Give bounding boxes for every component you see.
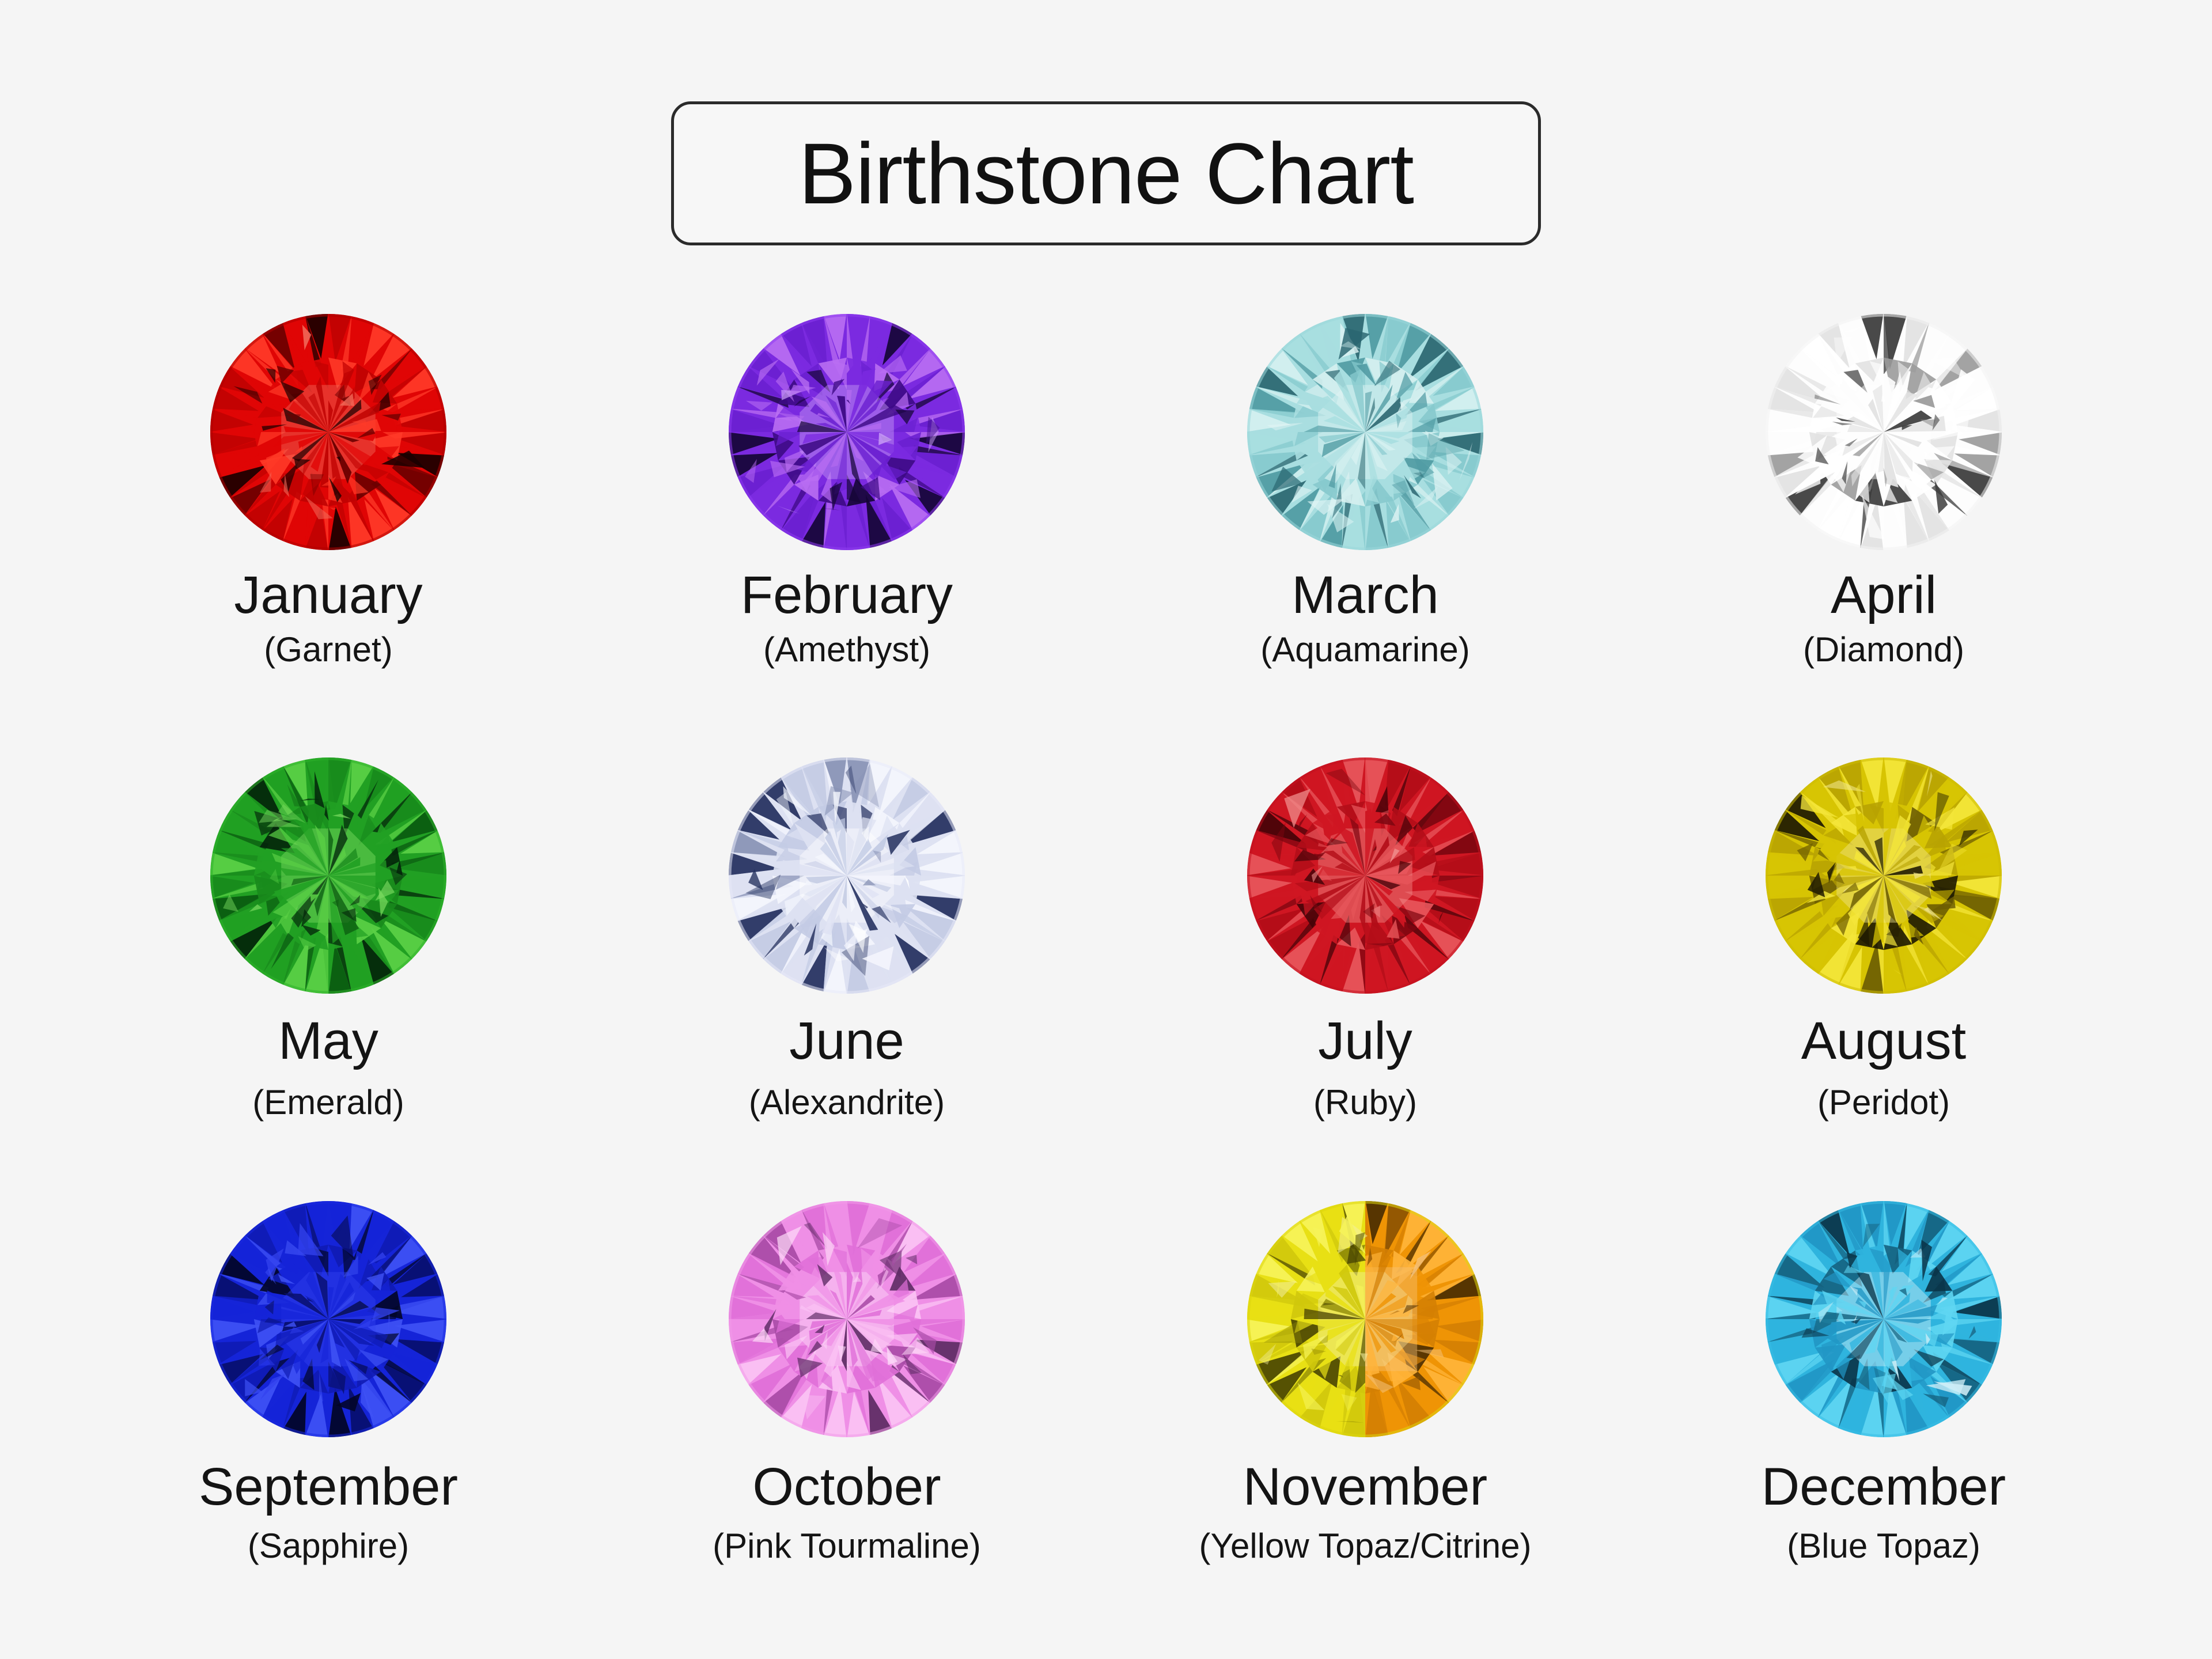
birthstone-cell-august[interactable]: August(Peridot) (1624, 755, 2143, 1198)
gem-svg (1763, 1198, 2005, 1440)
gem-svg (1244, 311, 1486, 553)
birthstone-cell-january[interactable]: January(Garnet) (69, 311, 588, 755)
stone-label: (Emerald) (75, 1084, 582, 1120)
round-brilliant-gem-icon (1763, 1198, 2005, 1440)
stone-label: (Alexandrite) (593, 1084, 1100, 1120)
round-brilliant-gem-icon (207, 311, 449, 553)
birthstone-cell-september[interactable]: September(Sapphire) (69, 1198, 588, 1642)
stone-label: (Blue Topaz) (1630, 1528, 2137, 1564)
birthstone-caption: November(Yellow Topaz/Citrine) (1112, 1440, 1619, 1564)
round-brilliant-gem-icon (207, 1198, 449, 1440)
birthstone-caption: June(Alexandrite) (593, 997, 1100, 1120)
gem-svg (1763, 755, 2005, 997)
stone-label: (Pink Tourmaline) (593, 1528, 1100, 1564)
gem-svg (1244, 1198, 1486, 1440)
stone-label: (Amethyst) (593, 631, 1100, 668)
birthstone-caption: January(Garnet) (75, 553, 582, 668)
birthstone-cell-march[interactable]: March(Aquamarine) (1106, 311, 1624, 755)
gem-svg (1244, 755, 1486, 997)
birthstone-caption: March(Aquamarine) (1112, 553, 1619, 668)
month-label: September (75, 1460, 582, 1515)
birthstone-cell-july[interactable]: July(Ruby) (1106, 755, 1624, 1198)
gem-svg (207, 755, 449, 997)
month-label: July (1112, 1014, 1619, 1069)
gem-svg (1763, 311, 2005, 553)
gem-svg (207, 1198, 449, 1440)
page-title: Birthstone Chart (798, 130, 1414, 217)
birthstone-cell-october[interactable]: October(Pink Tourmaline) (588, 1198, 1106, 1642)
birthstone-cell-april[interactable]: April(Diamond) (1624, 311, 2143, 755)
birthstone-cell-december[interactable]: December(Blue Topaz) (1624, 1198, 2143, 1642)
round-brilliant-gem-icon (1763, 755, 2005, 997)
round-brilliant-gem-icon (726, 755, 968, 997)
stone-label: (Peridot) (1630, 1084, 2137, 1120)
birthstone-caption: December(Blue Topaz) (1630, 1440, 2137, 1564)
title-box: Birthstone Chart (671, 101, 1541, 245)
birthstone-caption: July(Ruby) (1112, 997, 1619, 1120)
month-label: May (75, 1014, 582, 1069)
stone-label: (Diamond) (1630, 631, 2137, 668)
gem-svg (726, 755, 968, 997)
stone-label: (Ruby) (1112, 1084, 1619, 1120)
birthstone-cell-may[interactable]: May(Emerald) (69, 755, 588, 1198)
birthstone-caption: April(Diamond) (1630, 553, 2137, 668)
month-label: December (1630, 1460, 2137, 1515)
month-label: November (1112, 1460, 1619, 1515)
month-label: October (593, 1460, 1100, 1515)
birthstone-caption: October(Pink Tourmaline) (593, 1440, 1100, 1564)
stone-label: (Aquamarine) (1112, 631, 1619, 668)
gem-svg (726, 1198, 968, 1440)
gem-svg (726, 311, 968, 553)
stone-label: (Garnet) (75, 631, 582, 668)
round-brilliant-gem-icon (1244, 755, 1486, 997)
month-label: April (1630, 568, 2137, 623)
birthstone-caption: May(Emerald) (75, 997, 582, 1120)
round-brilliant-gem-icon (1763, 311, 2005, 553)
month-label: February (593, 568, 1100, 623)
birthstone-cell-november[interactable]: November(Yellow Topaz/Citrine) (1106, 1198, 1624, 1642)
title-bar: Birthstone Chart (0, 101, 2212, 245)
birthstone-cell-june[interactable]: June(Alexandrite) (588, 755, 1106, 1198)
birthstone-caption: August(Peridot) (1630, 997, 2137, 1120)
month-label: June (593, 1014, 1100, 1069)
round-brilliant-gem-icon (207, 755, 449, 997)
birthstone-caption: September(Sapphire) (75, 1440, 582, 1564)
round-brilliant-gem-icon (726, 1198, 968, 1440)
stone-label: (Sapphire) (75, 1528, 582, 1564)
round-brilliant-gem-icon (1244, 311, 1486, 553)
birthstone-grid: January(Garnet)February(Amethyst)March(A… (69, 311, 2143, 1642)
birthstone-cell-february[interactable]: February(Amethyst) (588, 311, 1106, 755)
round-brilliant-gem-icon (726, 311, 968, 553)
month-label: January (75, 568, 582, 623)
gem-svg (207, 311, 449, 553)
birthstone-caption: February(Amethyst) (593, 553, 1100, 668)
stone-label: (Yellow Topaz/Citrine) (1112, 1528, 1619, 1564)
month-label: March (1112, 568, 1619, 623)
round-brilliant-gem-split-icon (1244, 1198, 1486, 1440)
month-label: August (1630, 1014, 2137, 1069)
